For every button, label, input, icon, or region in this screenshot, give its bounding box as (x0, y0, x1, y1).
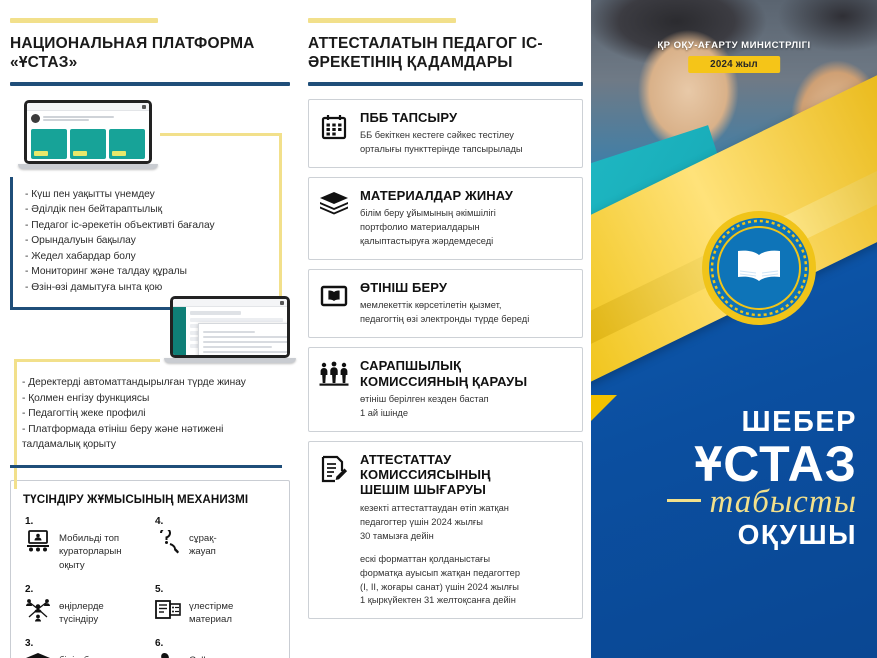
mechanism-item-3: 3. білім беру ұйымдарында түсі (23, 638, 147, 658)
list-item: - Өзін-өзі дамытуға ынта қою (25, 280, 246, 296)
ministry-emblem (700, 209, 818, 327)
mechanism-item-label: өңірлерде түсіндіру (59, 598, 104, 627)
slogan-dash (667, 499, 701, 502)
step-title: ӨТІНІШ БЕРУ (360, 280, 572, 295)
mechanism-title: ТҮСІНДІРУ ЖҰМЫСЫНЫҢ МЕХАНИЗМІ (23, 493, 277, 506)
mechanism-item-label: сұрақ- жауап (189, 530, 217, 559)
list-item: - Педагог іс-әрекетін объективті бағалау (25, 218, 246, 234)
mechanism-number: 4. (155, 516, 277, 527)
handout-document-icon (155, 598, 181, 620)
list-item: - Қолмен енгізу функциясы (22, 391, 268, 407)
laptop-base (18, 164, 158, 169)
open-book-emblem-icon (700, 209, 818, 327)
features-list-block: - Деректерді автоматтандырылған түрде жи… (10, 365, 282, 468)
middle-title-underline (308, 82, 583, 86)
middle-top-accent-line (308, 18, 456, 23)
step-description: өтініш берілген кезден бастап 1 ай ішінд… (360, 393, 572, 421)
mechanism-number: 2. (25, 584, 147, 595)
laptop-metric-cards (27, 126, 149, 162)
stacked-books-icon (317, 188, 351, 249)
left-title-underline (10, 82, 290, 86)
right-promo-panel: ҚР ОҚУ-АҒАРТУ МИНИСТРЛІГІ 2024 жыл (591, 0, 877, 658)
step-card-materialdar-zhinau[interactable]: МАТЕРИАЛДАР ЖИНАУ білім беру ұйымының әк… (308, 177, 583, 260)
mechanism-item-label: үлестірме материал (189, 598, 233, 627)
mechanism-number: 5. (155, 584, 277, 595)
network-people-icon (25, 598, 51, 622)
laptop-tiles-row (27, 162, 149, 164)
list-item: - Орындалуын бақылау (25, 233, 246, 249)
step-title: АТТЕСТАТТАУ КОМИССИЯСЫНЫҢ ШЕШІМ ШЫҒАРУЫ (360, 452, 572, 498)
mechanism-item-label: Мобильді топ кураторларын оқыту (59, 530, 147, 573)
mechanism-item-label: Call-центр сенім телефоны (189, 652, 261, 658)
open-book-icon (317, 280, 351, 327)
slogan-script-text: табысты (709, 484, 857, 520)
slogan-script-line: табысты (591, 486, 857, 519)
laptop-profile-header (27, 111, 149, 126)
features-list: - Деректерді автоматтандырылған түрде жи… (22, 375, 268, 453)
step-card-otinish-beru[interactable]: ӨТІНІШ БЕРУ мемлекеттік көрсетілетін қыз… (308, 269, 583, 338)
step-title: ПББ ТАПСЫРУ (360, 110, 572, 125)
middle-column: АТТЕСТАЛАТЫН ПЕДАГОГ ІС-ӘРЕКЕТІНІҢ ҚАДАМ… (300, 0, 591, 658)
step-title: САРАПШЫЛЫҚ КОМИССИЯНЫҢ ҚАРАУЫ (360, 358, 572, 389)
mechanism-item-1: 1. Мобильді топ кураторларын оқыту (23, 516, 147, 573)
list-item: - Мониторинг және талдау құралы (25, 264, 246, 280)
step-card-sarapshylyq-komissiya[interactable]: САРАПШЫЛЫҚ КОМИССИЯНЫҢ ҚАРАУЫ өтініш бер… (308, 347, 583, 432)
list-item: - Әділдік пен бейтараптылық (25, 202, 246, 218)
mechanism-number: 6. (155, 638, 277, 649)
step-card-attestattau-komissiya[interactable]: АТТЕСТАТТАУ КОМИССИЯСЫНЫҢ ШЕШІМ ШЫҒАРУЫ … (308, 441, 583, 620)
middle-column-title: АТТЕСТАЛАТЫН ПЕДАГОГ ІС-ӘРЕКЕТІНІҢ ҚАДАМ… (308, 34, 583, 73)
left-column-title: НАЦИОНАЛЬНАЯ ПЛАТФОРМА «ҰСТАЗ» (10, 34, 290, 73)
ministry-label: ҚР ОҚУ-АҒАРТУ МИНИСТРЛІГІ (591, 40, 877, 51)
calendar-icon (317, 110, 351, 157)
mechanism-item-label: білім беру ұйымдарында түсіндіру (59, 652, 122, 658)
benefits-list: - Күш пен уақытты үнемдеу - Әділдік пен … (25, 187, 246, 296)
list-item: - Жедел хабардар болу (25, 249, 246, 265)
slogan-line-3: ОҚУШЫ (591, 521, 857, 549)
mechanism-box: ТҮСІНДІРУ ЖҰМЫСЫНЫҢ МЕХАНИЗМІ 1. (10, 480, 290, 658)
step-description-secondary: ескі форматтан қолданыстағы форматқа ауы… (360, 553, 572, 609)
step-description: ББ бекіткен кестеге сәйкес тестілеу орта… (360, 129, 572, 157)
step-description: мемлекеттік көрсетілетін қызмет, педагог… (360, 299, 572, 327)
presentation-training-icon (25, 530, 51, 552)
laptop-mockup-table (170, 296, 290, 363)
list-item: - Деректерді автоматтандырылған түрде жи… (22, 375, 268, 391)
slogan-line-1: ШЕБЕР (591, 408, 857, 437)
laptop2-browser-bar (173, 299, 287, 307)
phone-handset-icon (155, 652, 181, 658)
year-badge: 2024 жыл (688, 56, 780, 73)
laptop2-sidebar (173, 307, 186, 355)
document-pen-icon (317, 452, 351, 609)
laptop-browser-bar (27, 103, 149, 111)
slogan-block: ШЕБЕР ҰСТАЗ табысты ОҚУШЫ (591, 408, 865, 549)
step-description: кезекті аттестаттаудан өтіп жатқан педаг… (360, 502, 572, 544)
left-top-accent-line (10, 18, 158, 23)
step-description: білім беру ұйымының әкімшілігі портфолио… (360, 207, 572, 249)
question-answer-icon (155, 530, 181, 554)
benefits-list-block: - Күш пен уақытты үнемдеу - Әділдік пен … (10, 177, 260, 311)
mechanism-item-4: 4. сұрақ- жауап (153, 516, 277, 573)
mechanism-item-2: 2. (23, 584, 147, 627)
mechanism-item-6: 6. Call-центр сенім телефоны (153, 638, 277, 658)
steps-list: ПББ ТАПСЫРУ ББ бекіткен кестеге сәйкес т… (308, 99, 583, 620)
list-item: - Күш пен уақытты үнемдеу (25, 187, 246, 203)
mechanism-grid: 1. Мобильді топ кураторларын оқыту (23, 516, 277, 658)
committee-people-icon (317, 358, 351, 421)
mechanism-number: 3. (25, 638, 147, 649)
list-item: - Платформада өтініш беру және нәтижені … (22, 422, 268, 453)
laptop-avatar (31, 114, 40, 123)
list-item: - Педагогтің жеке профилі (22, 406, 268, 422)
left-column: НАЦИОНАЛЬНАЯ ПЛАТФОРМА «ҰСТАЗ» (0, 0, 300, 658)
laptop-mockup-dashboard (24, 100, 152, 169)
step-title: МАТЕРИАЛДАР ЖИНАУ (360, 188, 572, 203)
mechanism-number: 1. (25, 516, 147, 527)
stacked-books-icon (25, 652, 51, 658)
slogan-line-2: ҰСТАЗ (591, 439, 857, 490)
step-card-pbb-tapsyru[interactable]: ПББ ТАПСЫРУ ББ бекіткен кестеге сәйкес т… (308, 99, 583, 168)
laptop2-base (164, 358, 296, 363)
laptop2-modal-dialog (198, 323, 290, 358)
mechanism-item-5: 5. (153, 584, 277, 627)
infographic-page: НАЦИОНАЛЬНАЯ ПЛАТФОРМА «ҰСТАЗ» (0, 0, 877, 658)
